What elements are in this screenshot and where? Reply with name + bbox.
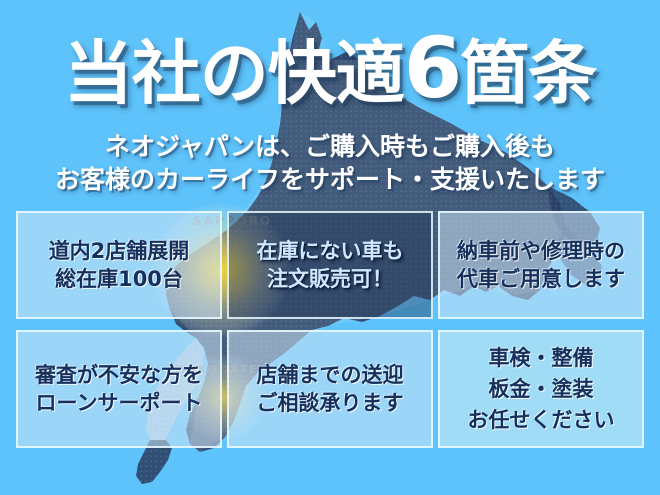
subtitle-line-2: お客様のカーライフをサポート・支援いたします (0, 163, 660, 196)
subtitle-line-1: ネオジャパンは、ご購入時もご購入後も (0, 130, 660, 163)
feature-loaner-car-line-2: 代車ご用意します (457, 265, 625, 293)
feature-loan-support: 審査が不安な方を ローンサーポート (16, 330, 222, 448)
feature-order-sales-line-2: 注文販売可！ (257, 265, 404, 293)
feature-stores-line-1: 道内2店舗展開 (49, 237, 190, 265)
subtitle: ネオジャパンは、ご購入時もご購入後も お客様のカーライフをサポート・支援いたしま… (0, 130, 660, 196)
headline-number: 6 (404, 19, 460, 117)
page-title: 当社の快適6箇条 (0, 26, 660, 110)
promo-banner: SAPPORO HAKODATE 当社の快適6箇条 ネオジャパンは、ご購入時もご… (0, 0, 660, 495)
feature-order-sales: 在庫にない車も 注文販売可！ (227, 211, 433, 319)
feature-order-sales-text: 在庫にない車も 注文販売可！ (257, 237, 404, 293)
feature-inspection-bodywork-line-1: 車検・整備 (468, 343, 615, 374)
feature-inspection-bodywork-line-2: 板金・塗装 (468, 374, 615, 405)
feature-loaner-car-line-1: 納車前や修理時の (457, 237, 625, 265)
feature-pickup-service: 店舗までの送迎 ご相談承ります (227, 330, 433, 448)
feature-pickup-service-text: 店舗までの送迎 ご相談承ります (257, 361, 404, 417)
feature-stores: 道内2店舗展開 総在庫100台 (16, 211, 222, 319)
feature-stores-line-2: 総在庫100台 (49, 265, 190, 293)
feature-loaner-car-text: 納車前や修理時の 代車ご用意します (457, 237, 625, 293)
feature-order-sales-line-1: 在庫にない車も (257, 237, 404, 265)
feature-loan-support-line-2: ローンサーポート (35, 389, 203, 417)
feature-pickup-service-line-2: ご相談承ります (257, 389, 404, 417)
feature-loan-support-line-1: 審査が不安な方を (35, 361, 203, 389)
feature-grid: 道内2店舗展開 総在庫100台 在庫にない車も 注文販売可！ 納車前や修理時の … (16, 211, 644, 448)
feature-inspection-bodywork: 車検・整備 板金・塗装 お任せください (438, 330, 644, 448)
feature-inspection-bodywork-line-3: お任せください (468, 405, 615, 436)
headline-before: 当社の快適 (64, 34, 404, 114)
feature-stores-text: 道内2店舗展開 総在庫100台 (49, 237, 190, 293)
headline-after: 箇条 (460, 34, 596, 114)
feature-loaner-car: 納車前や修理時の 代車ご用意します (438, 211, 644, 319)
feature-inspection-bodywork-text: 車検・整備 板金・塗装 お任せください (468, 343, 615, 436)
feature-pickup-service-line-1: 店舗までの送迎 (257, 361, 404, 389)
feature-loan-support-text: 審査が不安な方を ローンサーポート (35, 361, 203, 417)
